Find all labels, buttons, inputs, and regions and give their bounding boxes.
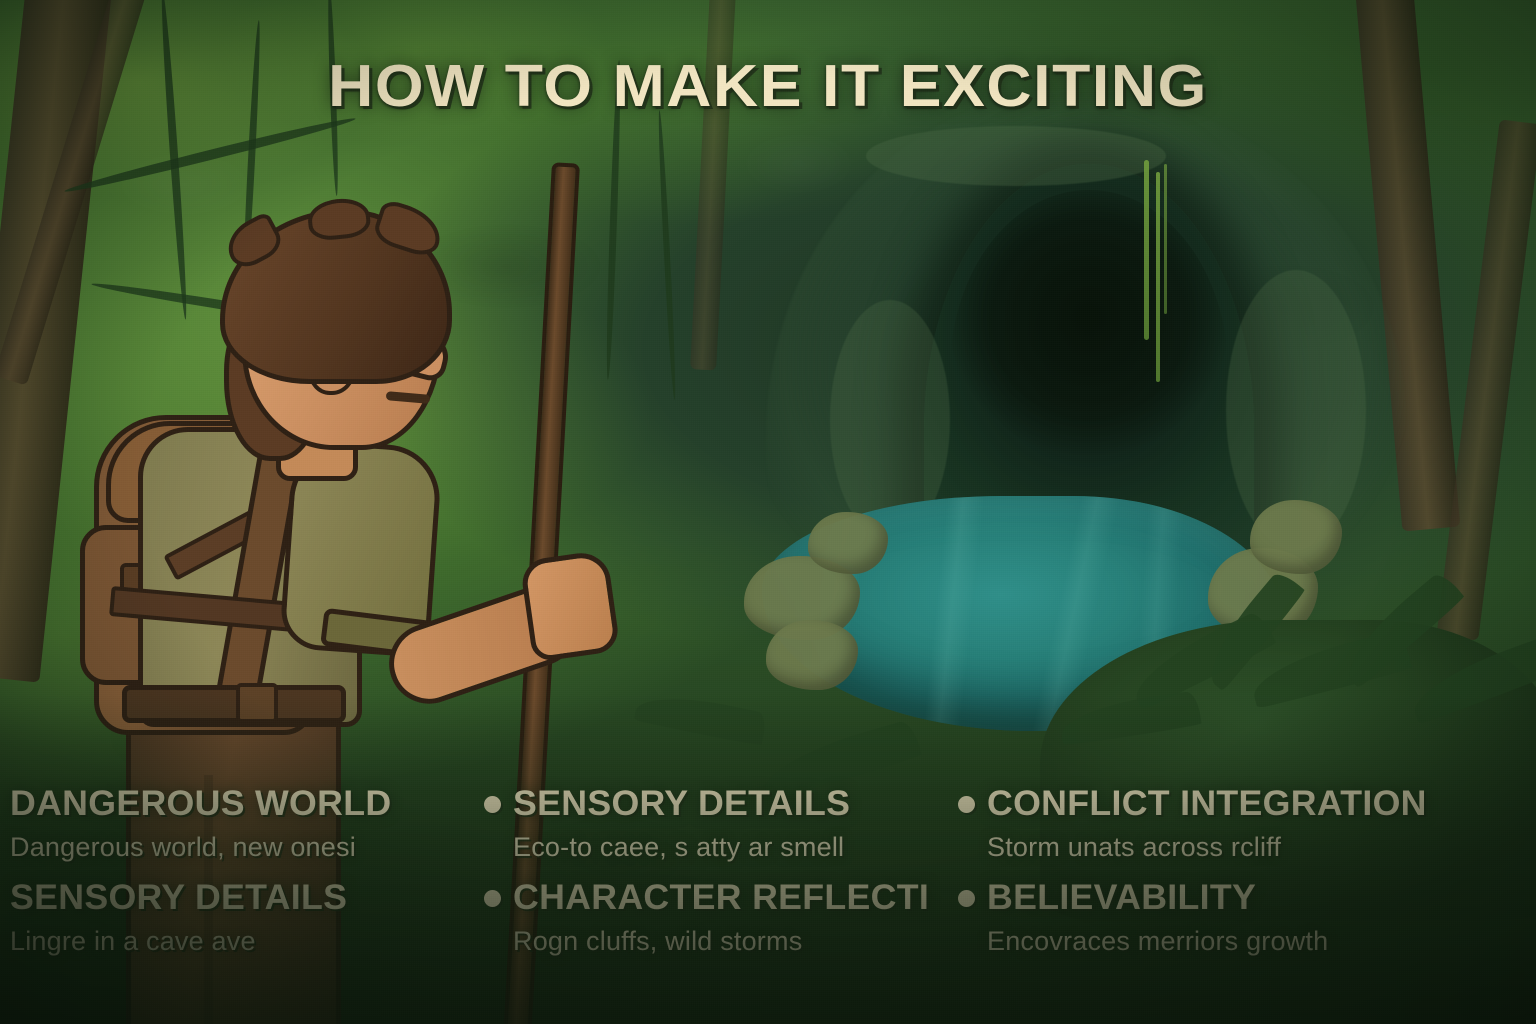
page-title: HOW TO MAKE IT EXCITING: [0, 52, 1536, 120]
poster-canvas: HOW TO MAKE IT EXCITING DANGEROUS WORLD …: [0, 0, 1536, 1024]
shore-rock-right-2: [1250, 500, 1342, 574]
bottom-shadow-overlay: [0, 694, 1536, 1024]
cave-vine-drip-3: [1164, 164, 1167, 314]
cave-ledge-top: [866, 126, 1166, 186]
character-hand: [519, 549, 620, 662]
cave-vine-drip-2: [1156, 172, 1160, 382]
cave-vine-drip-1: [1144, 160, 1149, 340]
shore-rock-left-3: [808, 512, 888, 574]
shore-rock-left-2: [766, 620, 858, 690]
